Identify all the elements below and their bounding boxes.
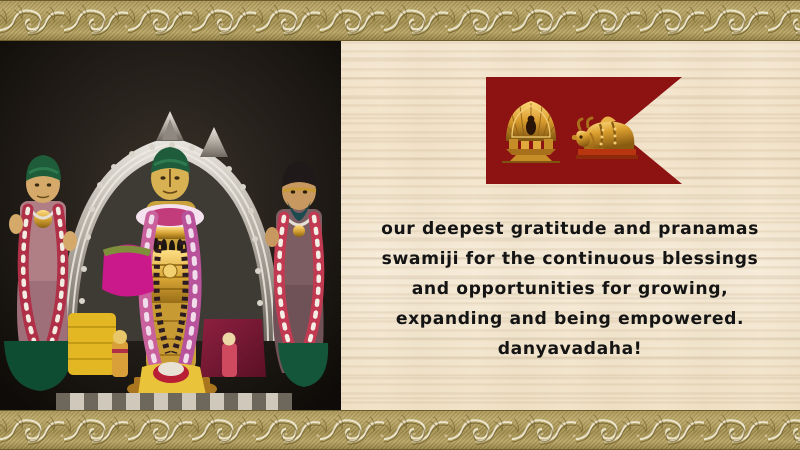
border-scroll-motif — [768, 411, 800, 449]
border-scroll-motif — [704, 1, 768, 40]
border-scroll-motif — [64, 1, 128, 40]
greeting-message: our deepest gratitude and pranamas swami… — [345, 214, 795, 364]
border-scroll-motif — [192, 411, 256, 449]
greeting-card: Bhakti Bhakti Bhakti Bhakti Bhakti Bhakt… — [0, 0, 800, 450]
border-scroll-motif — [640, 411, 704, 449]
message-line-4: expanding and being empowered. — [345, 304, 795, 334]
border-scroll-motif — [512, 411, 576, 449]
border-scroll-motif — [384, 1, 448, 40]
nandi-bull-icon — [570, 97, 642, 165]
deity-shrine-icon — [500, 97, 562, 165]
border-scroll-motif — [192, 1, 256, 40]
border-scroll-motif — [128, 1, 192, 40]
top-ornate-border — [0, 0, 800, 41]
border-scroll-motif — [320, 1, 384, 40]
border-scroll-motif — [640, 1, 704, 40]
border-scroll-motif — [128, 411, 192, 449]
bottom-ornate-border — [0, 410, 800, 450]
temple-deities-photograph — [0, 41, 341, 410]
border-scroll-motif — [320, 411, 384, 449]
message-line-2: swamiji for the continuous blessings — [345, 244, 795, 274]
message-line-5: danyavadaha! — [345, 334, 795, 364]
border-scroll-motif — [704, 411, 768, 449]
message-line-3: and opportunities for growing, — [345, 274, 795, 304]
border-scroll-motif — [576, 411, 640, 449]
border-scroll-motif — [384, 411, 448, 449]
border-scroll-motif — [512, 1, 576, 40]
message-line-1: our deepest gratitude and pranamas — [345, 214, 795, 244]
border-scroll-motif — [0, 1, 64, 40]
border-scroll-motif — [448, 1, 512, 40]
border-scroll-motif — [768, 1, 800, 40]
swallowtail-flag — [486, 77, 682, 184]
border-scroll-motif — [64, 411, 128, 449]
border-scroll-motif — [576, 1, 640, 40]
border-scroll-motif — [256, 411, 320, 449]
border-scroll-motif — [448, 411, 512, 449]
border-scroll-motif — [256, 1, 320, 40]
border-scroll-motif — [0, 411, 64, 449]
